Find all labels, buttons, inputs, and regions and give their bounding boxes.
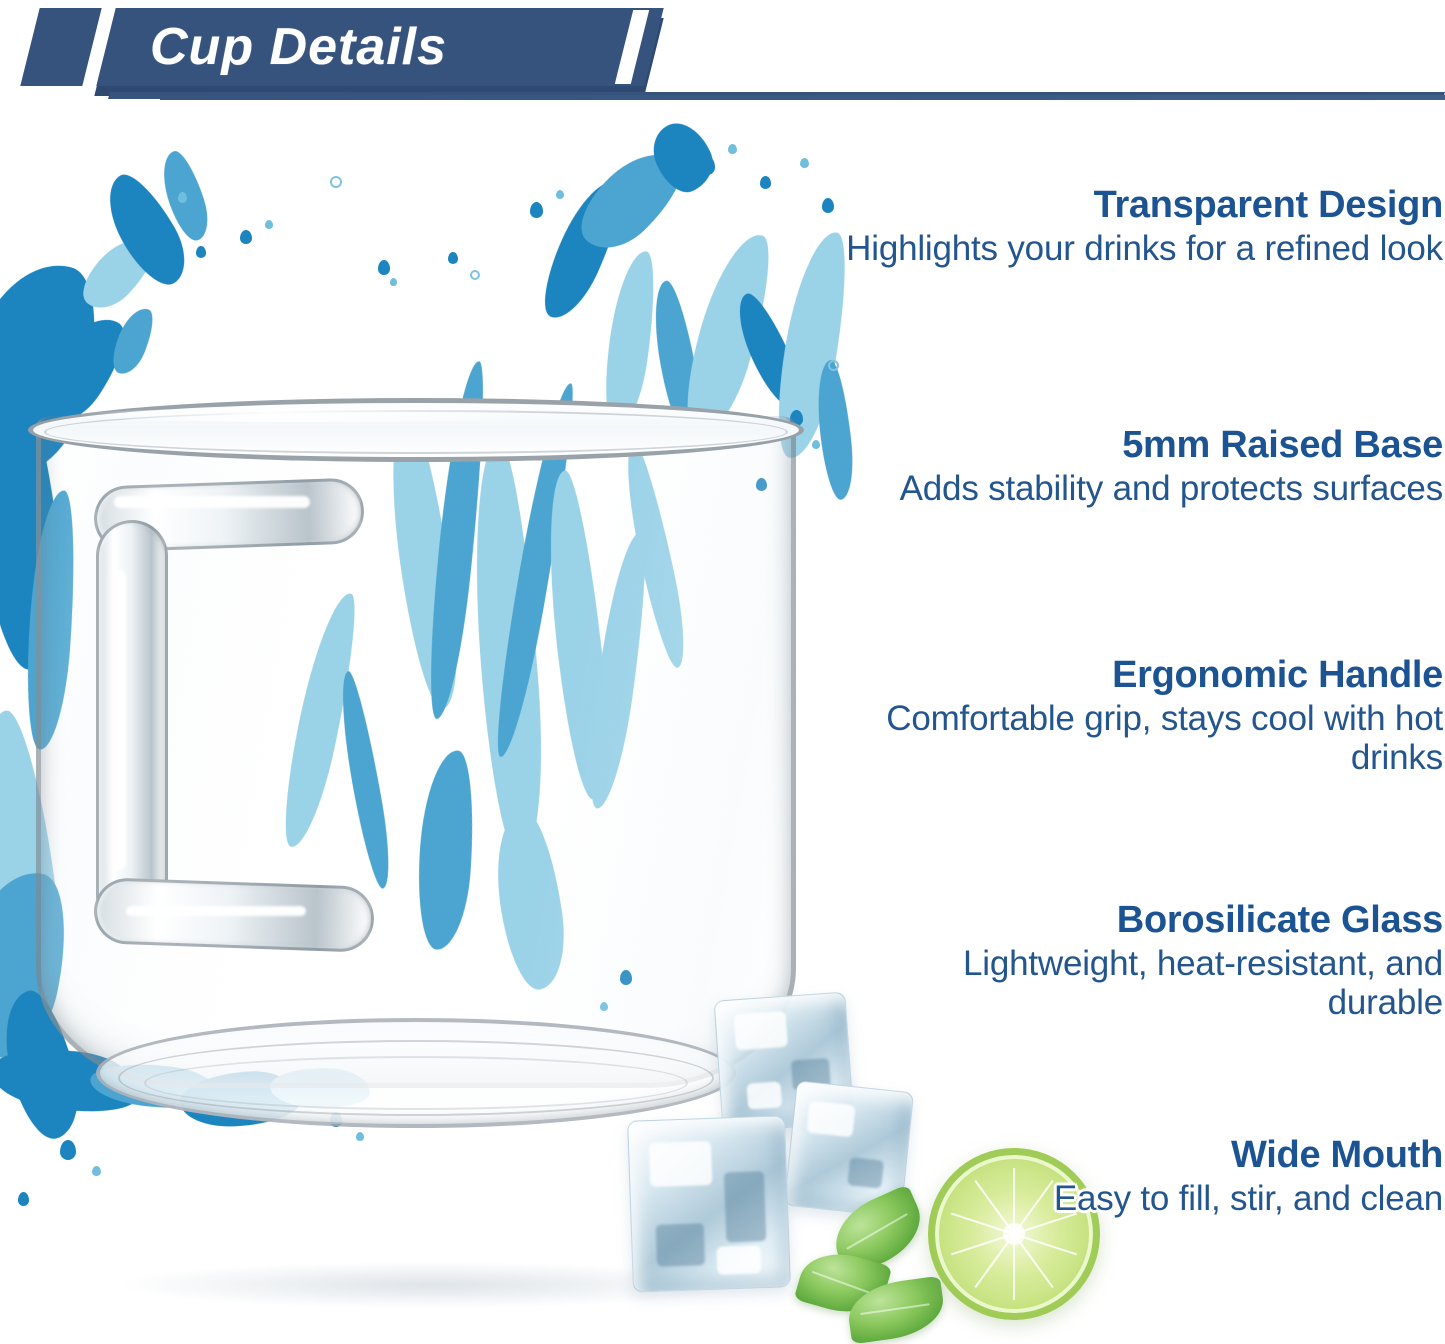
glass-mug bbox=[18, 392, 808, 1132]
mug-base-ring-inner bbox=[144, 1056, 688, 1110]
feature-item: Borosilicate Glass Lightweight, heat-res… bbox=[843, 900, 1443, 1023]
feature-title: 5mm Raised Base bbox=[843, 425, 1443, 465]
mug-handle bbox=[68, 478, 358, 956]
feature-description: Easy to fill, stir, and clean bbox=[843, 1179, 1443, 1218]
feature-description: Highlights your drinks for a refined loo… bbox=[843, 229, 1443, 268]
feature-item: 5mm Raised Base Adds stability and prote… bbox=[843, 425, 1443, 508]
handle-vertical-grip bbox=[96, 520, 168, 932]
header-underline-bar bbox=[160, 95, 1445, 100]
header-banner: Cup Details bbox=[0, 0, 1445, 110]
feature-item: Ergonomic Handle Comfortable grip, stays… bbox=[843, 655, 1443, 778]
feature-title: Ergonomic Handle bbox=[843, 655, 1443, 695]
feature-item: Transparent Design Highlights your drink… bbox=[843, 185, 1443, 268]
feature-description: Comfortable grip, stays cool with hot dr… bbox=[843, 699, 1443, 777]
feature-title: Transparent Design bbox=[843, 185, 1443, 225]
product-image bbox=[0, 110, 880, 1307]
ice-cube-front bbox=[627, 1115, 791, 1292]
page-title: Cup Details bbox=[150, 8, 630, 86]
feature-item: Wide Mouth Easy to fill, stir, and clean bbox=[843, 1135, 1443, 1218]
header-accent-slab bbox=[20, 8, 101, 86]
feature-description: Lightweight, heat-resistant, and durable bbox=[843, 944, 1443, 1022]
feature-title: Wide Mouth bbox=[843, 1135, 1443, 1175]
mug-rim-highlight bbox=[78, 408, 558, 422]
feature-description: Adds stability and protects surfaces bbox=[843, 469, 1443, 508]
handle-gloss-top bbox=[114, 496, 310, 508]
handle-gloss-bottom bbox=[126, 906, 306, 916]
feature-title: Borosilicate Glass bbox=[843, 900, 1443, 940]
handle-gloss-vertical bbox=[112, 570, 126, 870]
feature-list: Transparent Design Highlights your drink… bbox=[845, 110, 1445, 1307]
